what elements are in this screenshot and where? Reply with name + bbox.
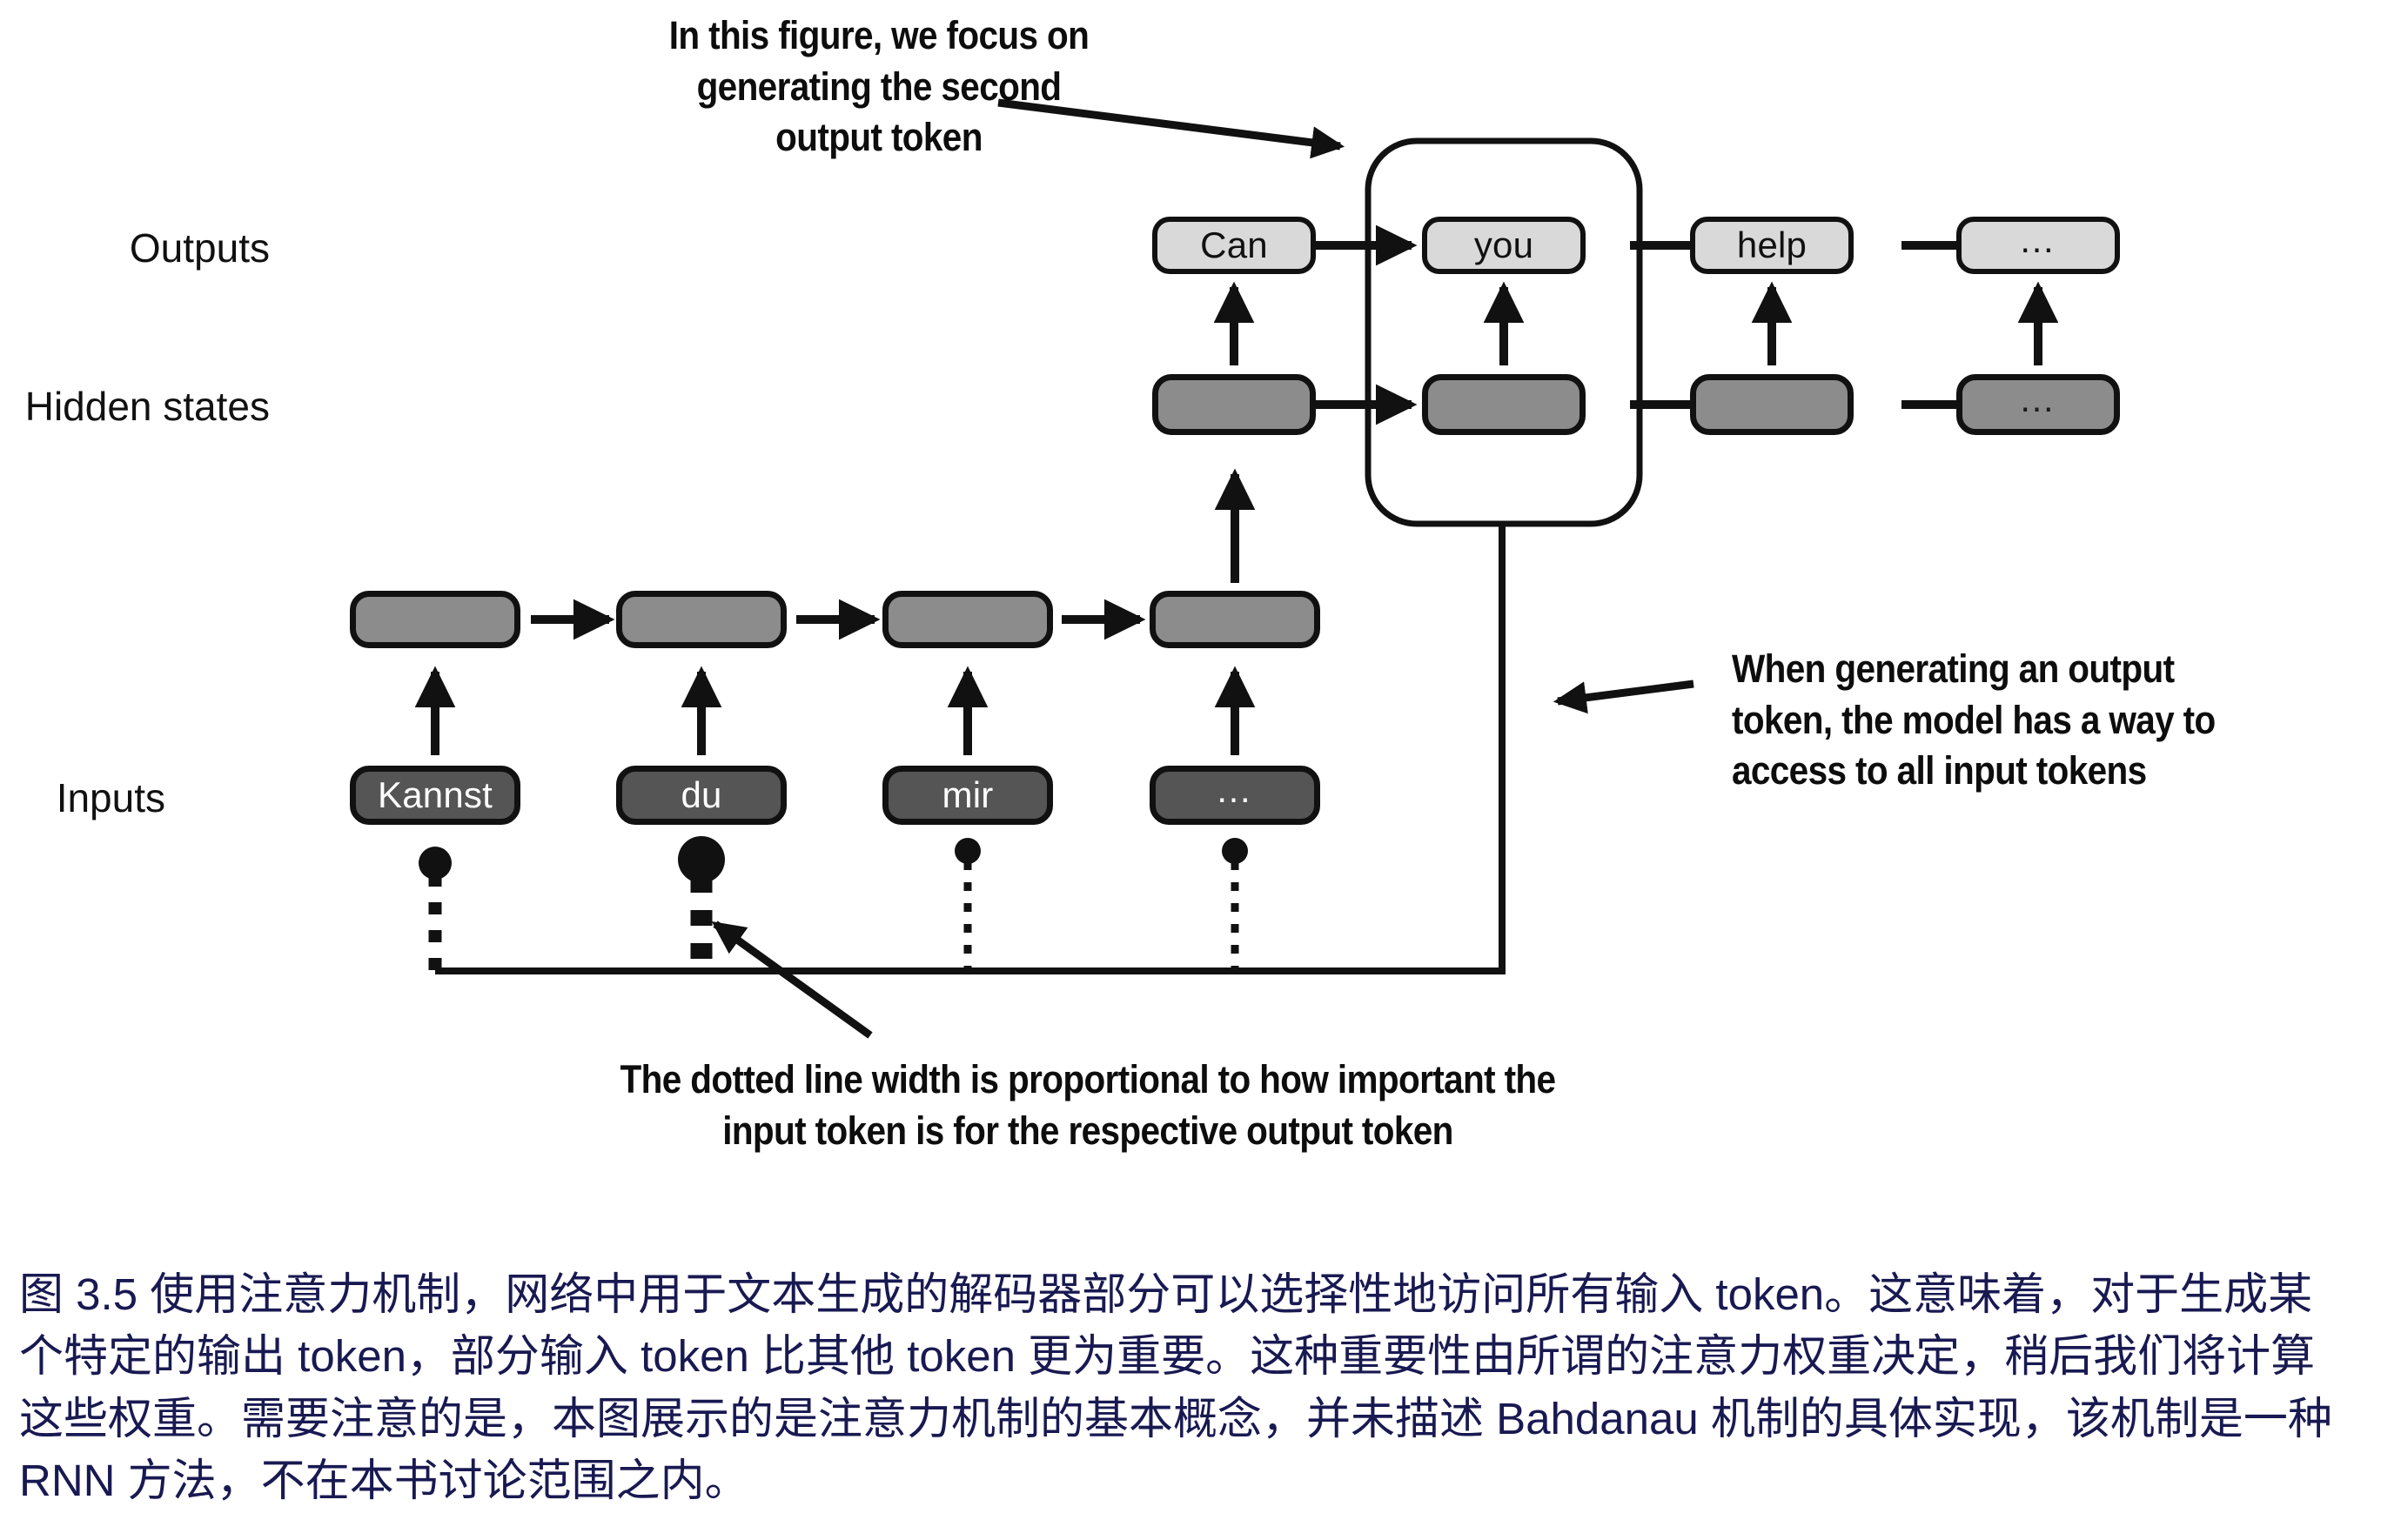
input-label-kannst: Kannst [378, 777, 493, 814]
output-label-3: help [1737, 227, 1807, 264]
annotation-access-all-inputs: When generating an output token, the mod… [1732, 644, 2296, 797]
output-label-4: … [2019, 222, 2058, 258]
input-label-mir: mir [942, 777, 994, 814]
row-label-outputs: Outputs [130, 224, 270, 271]
row-label-inputs: Inputs [57, 774, 165, 821]
output-box-3[interactable]: help [1690, 217, 1854, 274]
leader-line-dotted [715, 924, 870, 1035]
encoder-hidden-box-3[interactable] [882, 591, 1053, 648]
input-box-du[interactable]: du [616, 766, 787, 825]
output-label-1: Can [1200, 227, 1268, 264]
attention-dot-du [678, 836, 725, 883]
row-label-hidden-states: Hidden states [25, 383, 270, 430]
input-box-kannst[interactable]: Kannst [350, 766, 520, 825]
encoder-hidden-box-2[interactable] [616, 591, 787, 648]
leader-line-access [1558, 684, 1694, 701]
output-box-1[interactable]: Can [1152, 217, 1316, 274]
input-box-mir[interactable]: mir [882, 766, 1053, 825]
input-label-ellipsis: … [1216, 772, 1255, 808]
decoder-hidden-label-4: … [2019, 381, 2058, 418]
figure-caption: 图 3.5 使用注意力机制，网络中用于文本生成的解码器部分可以选择性地访问所有输… [19, 1263, 2351, 1512]
attention-dot-mir [955, 838, 981, 864]
decoder-hidden-box-3[interactable] [1690, 374, 1854, 435]
decoder-hidden-box-2[interactable] [1422, 374, 1586, 435]
decoder-hidden-box-4[interactable]: … [1956, 374, 2120, 435]
annotation-dotted-line-width: The dotted line width is proportional to… [555, 1055, 1620, 1156]
attention-dot-ellipsis [1222, 838, 1248, 864]
output-label-2: you [1474, 227, 1533, 264]
decoder-hidden-box-1[interactable] [1152, 374, 1316, 435]
input-label-du: du [681, 777, 721, 814]
input-box-ellipsis[interactable]: … [1150, 766, 1320, 825]
figure-canvas: Outputs Hidden states Inputs Can you hel… [0, 0, 2381, 1540]
output-box-2[interactable]: you [1422, 217, 1586, 274]
encoder-hidden-box-4[interactable] [1150, 591, 1320, 648]
encoder-hidden-box-1[interactable] [350, 591, 520, 648]
annotation-focus-second-token: In this figure, we focus on generating t… [636, 10, 1122, 164]
output-box-4[interactable]: … [1956, 217, 2120, 274]
